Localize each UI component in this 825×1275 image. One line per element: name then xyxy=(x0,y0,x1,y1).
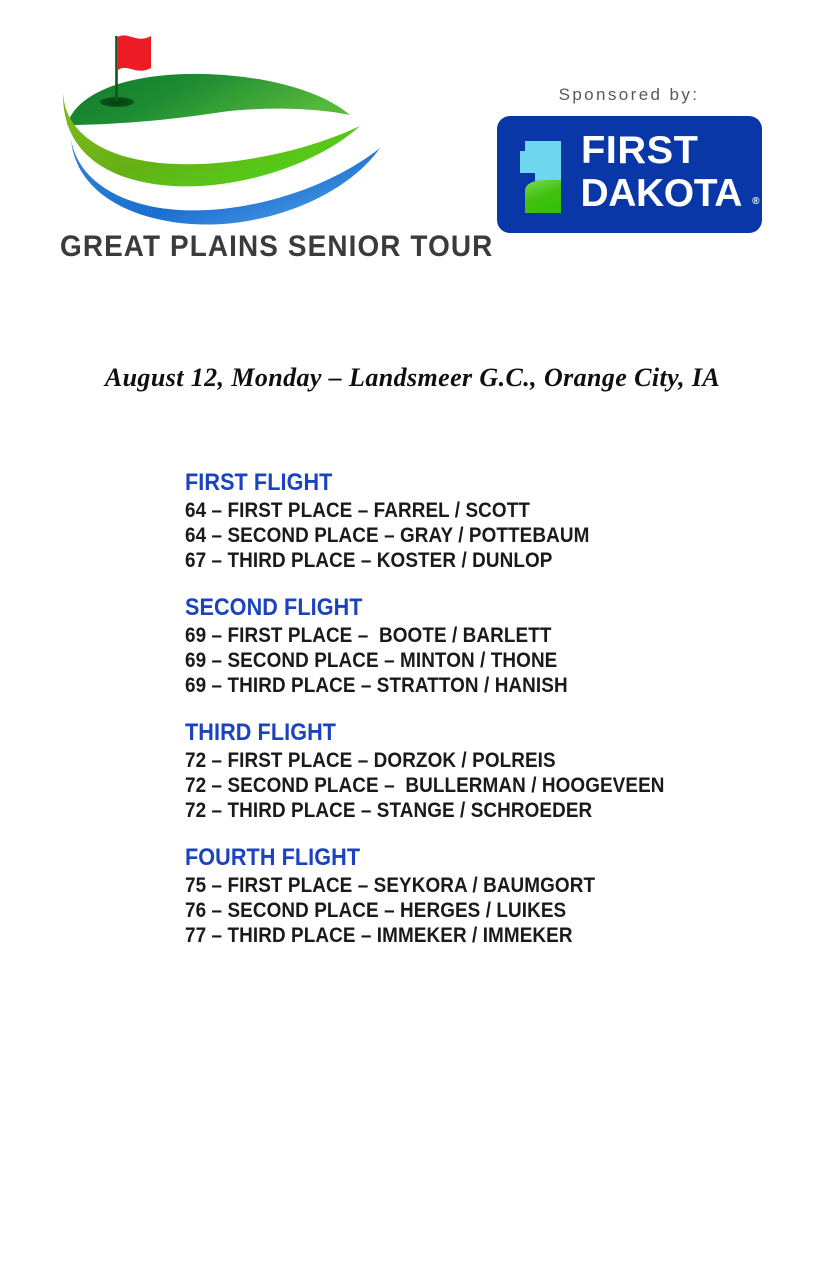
first-dakota-bank-logo[interactable]: FIRST DAKOTA ® xyxy=(497,116,762,233)
flight-result-row: 64 – SECOND PLACE – GRAY / POTTEBAUM xyxy=(185,523,725,548)
flight-group: THIRD FLIGHT 72 – FIRST PLACE – DORZOK /… xyxy=(185,718,785,823)
flight-result-row: 72 – FIRST PLACE – DORZOK / POLREIS xyxy=(185,748,725,773)
results-list: FIRST FLIGHT 64 – FIRST PLACE – FARREL /… xyxy=(185,468,785,948)
sponsor-name-line2: DAKOTA xyxy=(581,172,743,215)
great-plains-senior-tour-logo: GREAT PLAINS SENIOR TOUR xyxy=(55,30,390,275)
flight-title: SECOND FLIGHT xyxy=(185,593,725,623)
flight-title: FOURTH FLIGHT xyxy=(185,843,725,873)
flight-result-row: 64 – FIRST PLACE – FARREL / SCOTT xyxy=(185,498,725,523)
golf-green-swoosh-with-flag-icon xyxy=(55,30,390,230)
sponsor-name-line2-wrap: DAKOTA ® xyxy=(581,172,753,216)
flight-result-row: 72 – SECOND PLACE – BULLERMAN / HOOGEVEE… xyxy=(185,773,725,798)
flight-result-row: 69 – FIRST PLACE – BOOTE / BARLETT xyxy=(185,623,725,648)
page-header: GREAT PLAINS SENIOR TOUR Sponsored by: xyxy=(0,0,825,300)
sponsor-name-line1: FIRST xyxy=(581,130,756,172)
organization-wordmark: GREAT PLAINS SENIOR TOUR xyxy=(60,232,367,262)
first-dakota-numeral-one-icon xyxy=(515,133,577,217)
sponsored-by-label: Sponsored by: xyxy=(495,85,763,105)
flight-result-row: 67 – THIRD PLACE – KOSTER / DUNLOP xyxy=(185,548,725,573)
flight-result-row: 75 – FIRST PLACE – SEYKORA / BAUMGORT xyxy=(185,873,725,898)
registered-trademark-icon: ® xyxy=(752,180,759,224)
flight-result-row: 69 – SECOND PLACE – MINTON / THONE xyxy=(185,648,725,673)
flight-result-row: 76 – SECOND PLACE – HERGES / LUIKES xyxy=(185,898,725,923)
flight-title: FIRST FLIGHT xyxy=(185,468,725,498)
flight-result-row: 69 – THIRD PLACE – STRATTON / HANISH xyxy=(185,673,725,698)
event-date-venue: August 12, Monday – Landsmeer G.C., Oran… xyxy=(0,363,825,393)
flight-group: FIRST FLIGHT 64 – FIRST PLACE – FARREL /… xyxy=(185,468,785,573)
flight-group: FOURTH FLIGHT 75 – FIRST PLACE – SEYKORA… xyxy=(185,843,785,948)
flight-group: SECOND FLIGHT 69 – FIRST PLACE – BOOTE /… xyxy=(185,593,785,698)
flight-result-row: 77 – THIRD PLACE – IMMEKER / IMMEKER xyxy=(185,923,725,948)
flight-title: THIRD FLIGHT xyxy=(185,718,725,748)
first-dakota-wordmark: FIRST DAKOTA ® xyxy=(581,130,753,216)
sponsor-block: Sponsored by: xyxy=(495,85,763,233)
flight-result-row: 72 – THIRD PLACE – STANGE / SCHROEDER xyxy=(185,798,725,823)
